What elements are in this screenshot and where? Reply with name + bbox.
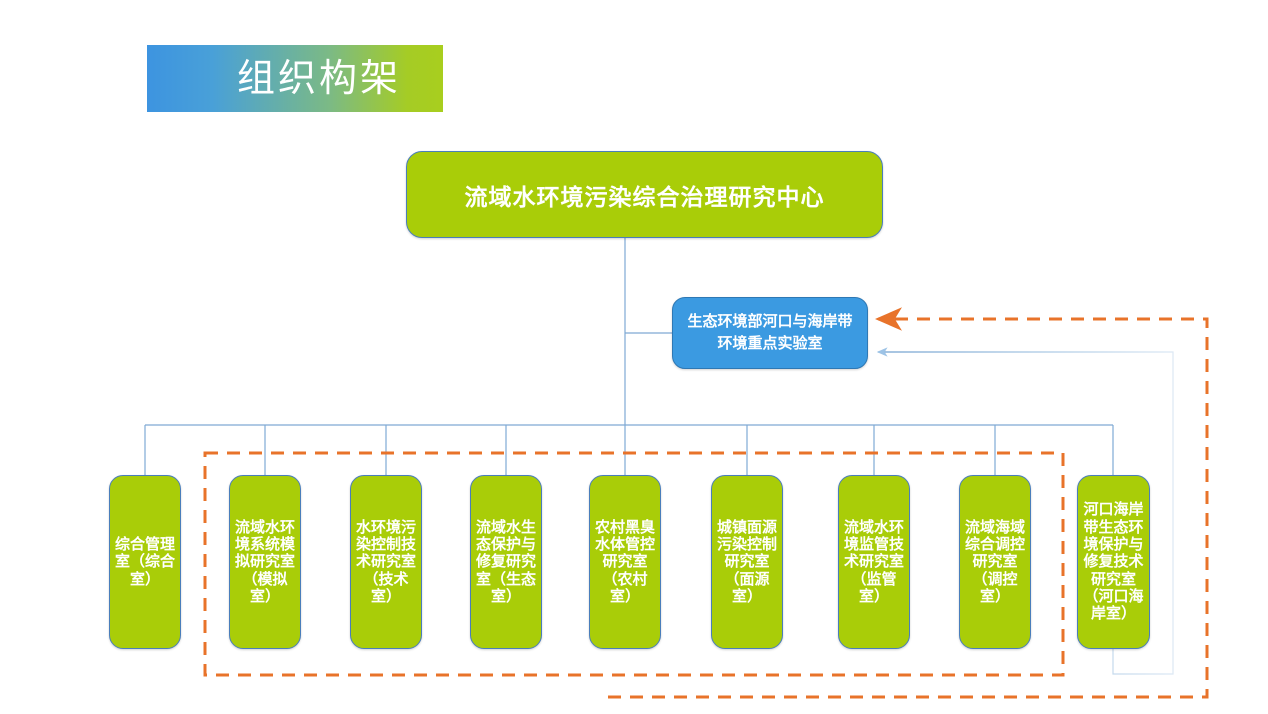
org-node-dept-1-label: 综合管理室（综合室） [113,536,177,588]
org-node-dept-9[interactable]: 河口海岸带生态环境保护与修复技术研究室（河口海岸室） [1077,475,1150,649]
org-node-dept-5-label: 农村黑臭水体管控研究室（农村室） [593,519,657,606]
connector-trunk [145,238,1113,475]
org-node-dept-6[interactable]: 城镇面源污染控制研究室（面源室） [711,475,783,649]
slide-canvas: 组织构架 [0,0,1268,714]
org-node-root-label: 流域水环境污染综合治理研究中心 [465,178,825,212]
org-node-dept-4-label: 流域水生态保护与修复研究室（生态室） [474,519,538,606]
org-node-dept-4[interactable]: 流域水生态保护与修复研究室（生态室） [470,475,542,649]
page-title: 组织构架 [237,60,401,98]
org-node-dept-5[interactable]: 农村黑臭水体管控研究室（农村室） [589,475,661,649]
org-node-dept-2-label: 流域水环境系统模拟研究室（模拟室） [233,519,297,606]
org-node-dept-1[interactable]: 综合管理室（综合室） [109,475,181,649]
org-node-dept-9-label: 河口海岸带生态环境保护与修复技术研究室（河口海岸室） [1081,501,1146,623]
org-node-dept-8[interactable]: 流域海域综合调控研究室（调控室） [959,475,1031,649]
slide-title-banner: 组织构架 [147,45,443,112]
org-node-dept-2[interactable]: 流域水环境系统模拟研究室（模拟室） [229,475,301,649]
org-node-dept-3[interactable]: 水环境污染控制技术研究室（技术室） [350,475,422,649]
org-node-key-laboratory[interactable]: 生态环境部河口与海岸带环境重点实验室 [672,297,868,369]
org-node-dept-7[interactable]: 流域水环境监管技术研究室（监管室） [838,475,910,649]
org-node-dept-8-label: 流域海域综合调控研究室（调控室） [963,519,1027,606]
org-node-root[interactable]: 流域水环境污染综合治理研究中心 [406,151,883,238]
org-node-key-laboratory-label: 生态环境部河口与海岸带环境重点实验室 [683,311,857,355]
org-node-dept-6-label: 城镇面源污染控制研究室（面源室） [715,519,779,606]
org-node-dept-3-label: 水环境污染控制技术研究室（技术室） [354,519,418,606]
org-node-dept-7-label: 流域水环境监管技术研究室（监管室） [842,519,906,606]
